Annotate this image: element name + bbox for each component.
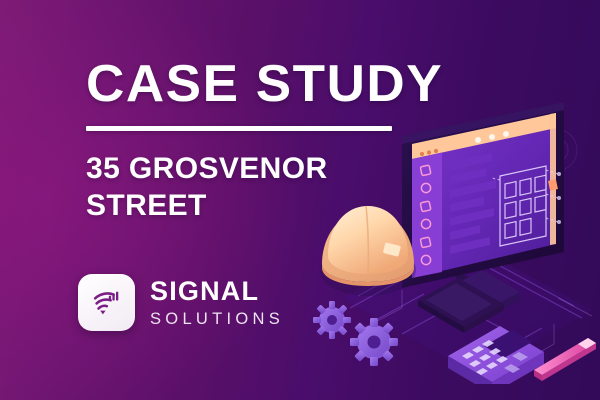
page-title: CASE STUDY [86,58,433,110]
gear-small [313,301,351,339]
logo-wordmark: SIGNAL SOLUTIONS [150,278,284,328]
logo-name: SIGNAL [150,278,284,305]
title-divider [86,126,392,131]
blueprint-screen [492,166,561,246]
gear-large [350,318,398,366]
logo-tagline: SOLUTIONS [150,311,284,328]
calculator [448,326,544,384]
case-study-banner: CASE STUDY 35 GROSVENOR STREET SIGN [0,0,600,400]
banner-subtitle: 35 GROSVENOR STREET [86,151,366,224]
banner-text-block: CASE STUDY 35 GROSVENOR STREET [86,58,426,224]
logo-mark [78,274,135,331]
pen [534,338,596,381]
signal-shield-icon [87,283,127,323]
brand-logo[interactable]: SIGNAL SOLUTIONS [78,274,284,331]
desktop-monitor [402,102,564,328]
desk-surface [342,236,592,376]
keyboard [418,278,504,333]
